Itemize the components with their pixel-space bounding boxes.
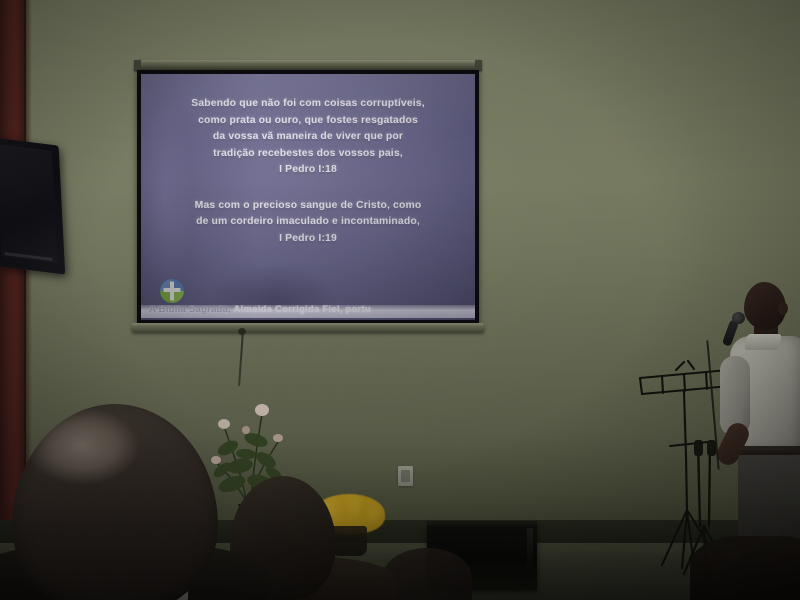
wall-power-outlet[interactable] [398, 466, 413, 486]
slide-footer-right-text: Almeida Corrigida Fiel, portu [233, 305, 370, 315]
audience-body-right-foreground [690, 536, 800, 600]
slide-footer-strip: A Bíblia Sagrada, Almeida Corrigida Fiel… [141, 305, 475, 318]
photo-scene: Sabendo que não foi com coisas corruptív… [0, 0, 800, 600]
projection-screen-frame: Sabendo que não foi com coisas corruptív… [137, 70, 479, 324]
verse1-line-1: Sabendo que não foi com coisas corruptív… [155, 96, 461, 113]
slide-footer-left-text: A Bíblia Sagrada, [149, 305, 231, 315]
verse1-line-4: tradição recebestes dos vossos pais, [155, 146, 461, 163]
verse1-reference: I Pedro I:18 [155, 162, 461, 179]
verse1-line-3: da vossa vã maneira de viver que por [155, 129, 461, 146]
wall-speaker-grille [0, 144, 58, 264]
floor-speaker-top-edge [427, 521, 537, 526]
verse2-line-1: Mas com o precioso sangue de Cristo, com… [155, 198, 461, 215]
slide-text-block: Sabendo que não foi com coisas corruptív… [141, 96, 475, 247]
preacher-upper-arm [720, 356, 750, 436]
verse2-reference: I Pedro I:19 [155, 231, 461, 248]
verse1-line-2: como prata ou ouro, que fostes resgatado… [155, 113, 461, 130]
wall-outlet-socket [401, 470, 410, 482]
church-cross-shield-logo-icon [159, 278, 185, 304]
wall-mounted-loudspeaker [0, 137, 65, 274]
preacher-shirt-collar [744, 334, 781, 350]
projection-screen-assembly: Sabendo que não foi com coisas corruptív… [134, 60, 482, 332]
preacher-ear [778, 302, 788, 315]
microphone-head-icon [732, 312, 745, 324]
projection-screen-surface: Sabendo que não foi com coisas corruptív… [141, 74, 475, 320]
yellow-flower-vase [331, 526, 367, 556]
preacher-belt [736, 446, 800, 455]
slide-paragraph-gap [155, 179, 461, 198]
verse2-line-2: de um cordeiro imaculado e incontaminado… [155, 214, 461, 231]
slide-footer-text: A Bíblia Sagrada, Almeida Corrigida Fiel… [149, 305, 473, 315]
floor-speaker-highlight [527, 528, 533, 574]
projection-screen-bottom-weight-bar [132, 323, 484, 332]
